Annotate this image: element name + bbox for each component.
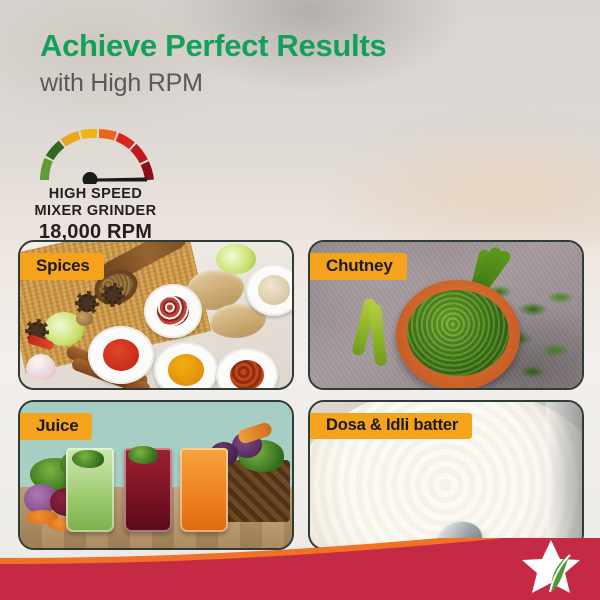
panel-juice[interactable]: Juice — [18, 400, 294, 550]
panel-chutney[interactable]: Chutney — [308, 240, 584, 390]
promo-banner: Achieve Perfect Results with High RPM — [0, 0, 600, 600]
speedometer-gauge-icon — [34, 128, 160, 184]
panel-label-chutney: Chutney — [310, 253, 407, 280]
footer-band — [0, 538, 600, 600]
page-title: Achieve Perfect Results — [40, 30, 560, 63]
badge-line-1: HIGH SPEED — [28, 186, 163, 203]
panel-spices[interactable]: Spices — [18, 240, 294, 390]
panel-label-juice: Juice — [20, 413, 92, 440]
headline-block: Achieve Perfect Results with High RPM — [40, 30, 560, 96]
star-leaf-brand-logo — [520, 538, 582, 596]
panel-dosa-idli-batter[interactable]: Dosa & Idli batter — [308, 400, 584, 550]
badge-text: HIGH SPEED MIXER GRINDER 18,000 RPM — [28, 186, 163, 244]
badge-line-2: MIXER GRINDER — [28, 203, 163, 220]
high-speed-badge: HIGH SPEED MIXER GRINDER 18,000 RPM — [28, 128, 208, 244]
background-blur-right — [340, 120, 600, 250]
panel-label-dosa-idli-batter: Dosa & Idli batter — [310, 413, 472, 439]
panel-label-spices: Spices — [20, 253, 104, 280]
use-case-grid: Spices Chutney — [18, 240, 584, 550]
page-subtitle: with High RPM — [40, 70, 560, 96]
